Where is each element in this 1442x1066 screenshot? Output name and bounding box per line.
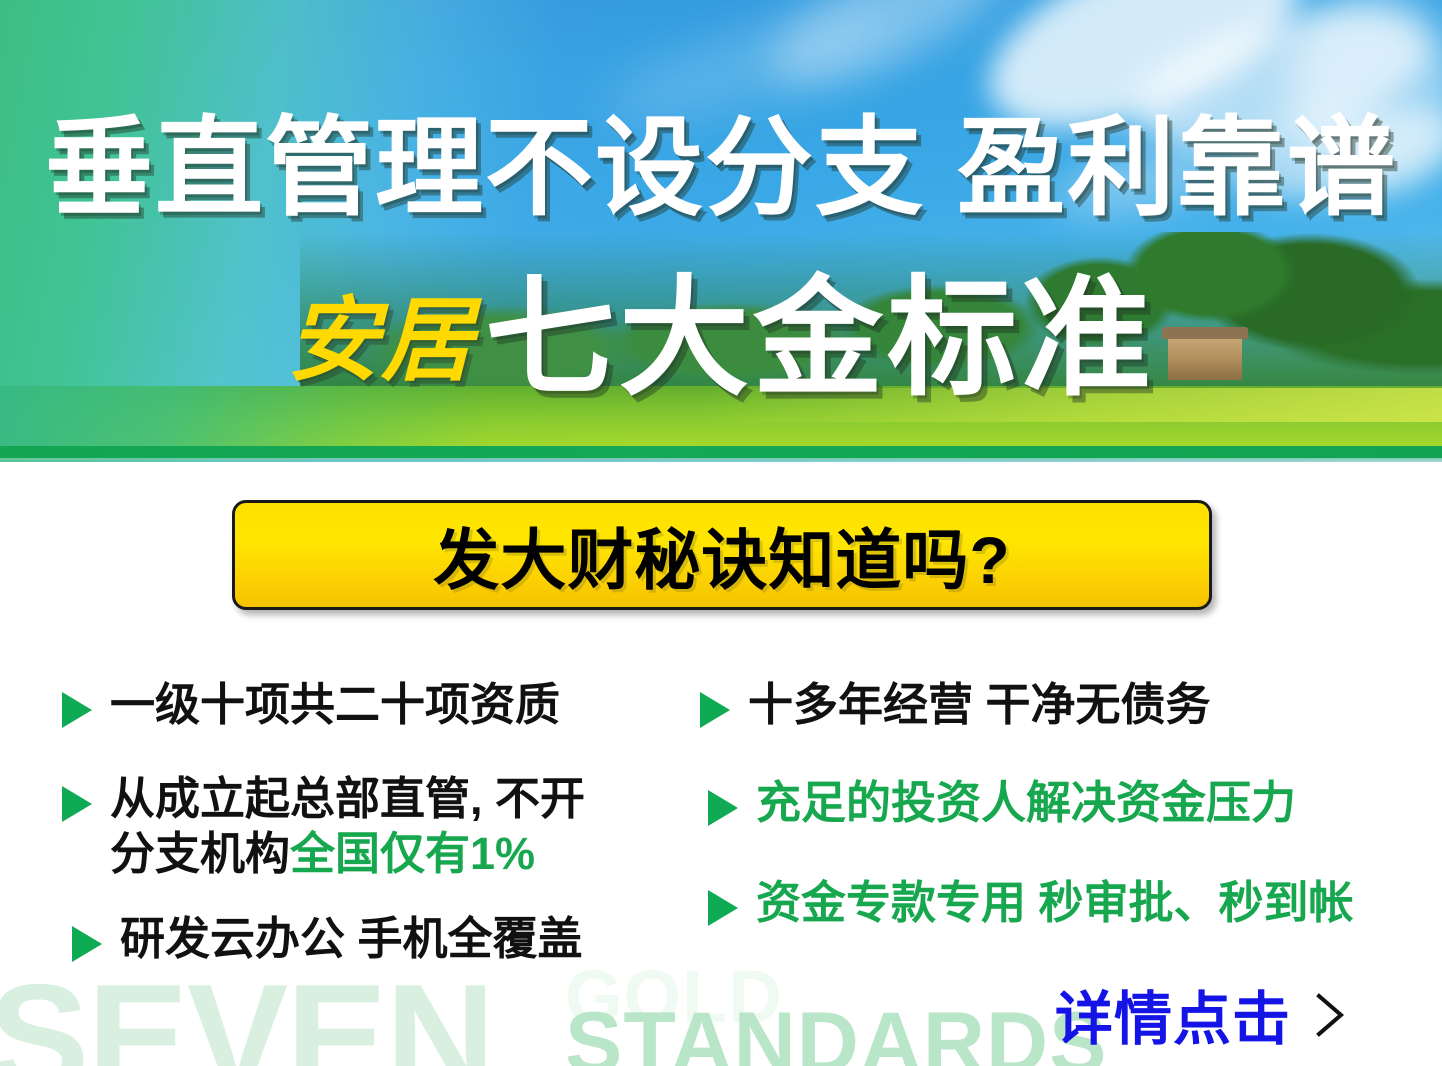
feature-item-right-1: 十多年经营 干净无债务 [700,678,1211,733]
triangle-bullet-icon [708,890,738,926]
feature-item-left-2: 从成立起总部直管, 不开 分支机构全国仅有1% [62,772,585,882]
triangle-bullet-icon [72,926,102,962]
feature-left-2-text: 从成立起总部直管, 不开 分支机构全国仅有1% [110,772,585,882]
feature-item-right-2: 充足的投资人解决资金压力 [708,776,1296,831]
hero-bottom-fade [0,458,1442,462]
feature-item-left-1: 一级十项共二十项资质 [62,678,560,733]
features-section: 一级十项共二十项资质 从成立起总部直管, 不开 分支机构全国仅有1% 研发云办公… [0,660,1442,990]
feature-right-2-text: 充足的投资人解决资金压力 [756,776,1296,831]
yellow-question-banner[interactable]: 发大财秘诀知道吗? [232,500,1212,610]
details-cta-link[interactable]: 详情点击 [1055,972,1347,1056]
watermark-standards: STANDARDS [565,1000,1108,1066]
triangle-bullet-icon [700,692,730,728]
promo-banner: 垂直管理不设分支 盈利靠谱 安居 七大金标准 SEVEN GOLD STANDA… [0,0,1442,1066]
feature-left-2-line2-plain: 分支机构 [110,828,290,879]
yellow-banner-text: 发大财秘诀知道吗? [433,507,1010,603]
hero-section: 垂直管理不设分支 盈利靠谱 安居 七大金标准 [0,0,1442,462]
hero-bottom-green-band [0,446,1442,458]
cta-label: 详情点击 [1055,972,1291,1056]
hero-subheadline: 七大金标准 [485,273,1155,403]
feature-left-3-text: 研发云办公 手机全覆盖 [120,912,583,967]
hero-subheadline-row: 安居 七大金标准 [0,270,1442,403]
chevron-right-icon [1313,992,1347,1038]
triangle-bullet-icon [708,790,738,826]
brand-word: 安居 [287,266,475,399]
feature-left-2-highlight: 全国仅有1% [290,828,535,879]
feature-left-1-text: 一级十项共二十项资质 [110,678,560,733]
triangle-bullet-icon [62,692,92,728]
feature-item-left-3: 研发云办公 手机全覆盖 [72,912,583,967]
feature-right-1-text: 十多年经营 干净无债务 [748,678,1211,733]
feature-item-right-3: 资金专款专用 秒审批、秒到帐 [708,876,1354,931]
feature-left-2-line2: 分支机构全国仅有1% [110,827,585,882]
feature-right-3-text: 资金专款专用 秒审批、秒到帐 [756,876,1354,931]
triangle-bullet-icon [62,786,92,822]
feature-left-2-line1: 从成立起总部直管, 不开 [110,773,585,824]
hero-headline: 垂直管理不设分支 盈利靠谱 [0,110,1442,227]
